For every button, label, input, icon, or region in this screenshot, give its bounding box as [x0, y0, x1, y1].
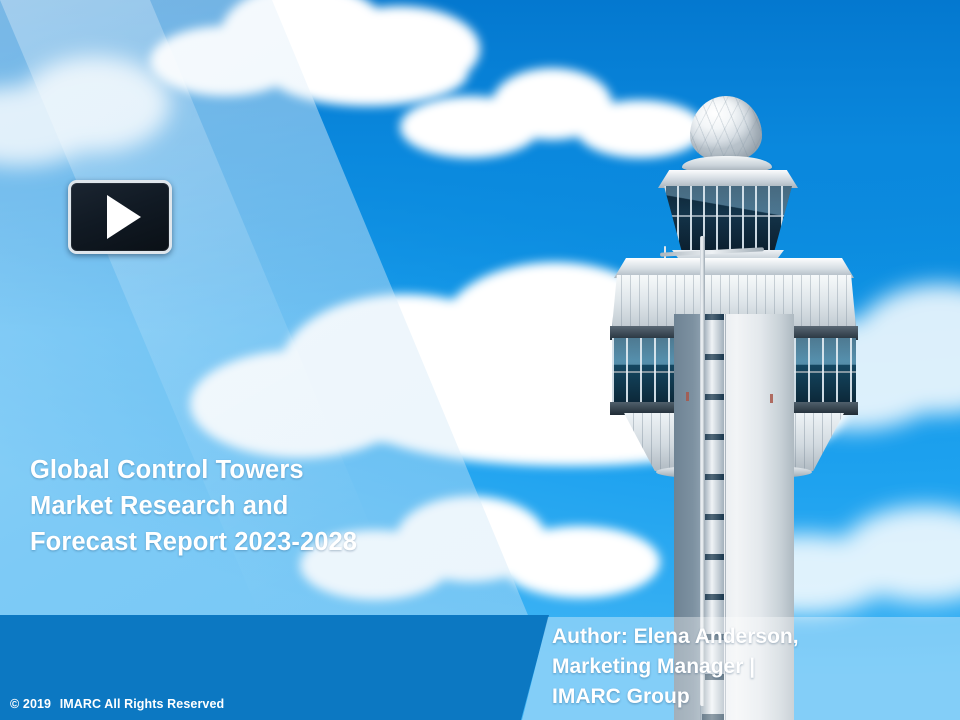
copyright-owner: IMARC: [60, 697, 101, 711]
page-title-line-1: Global Control Towers: [30, 452, 450, 488]
page-title-line-3: Forecast Report 2023-2028: [30, 524, 450, 560]
author-credit-line-2: Marketing Manager |: [552, 652, 952, 682]
report-cover-slide: Global Control Towers Market Research an…: [0, 0, 960, 720]
copyright-symbol: ©: [10, 697, 19, 711]
copyright-year: 2019: [23, 697, 51, 711]
play-triangle-icon: [107, 195, 141, 239]
play-video-button[interactable]: [68, 180, 172, 254]
shaft-marker-a: [686, 392, 689, 401]
page-title-line-2: Market Research and: [30, 488, 450, 524]
page-title: Global Control Towers Market Research an…: [30, 452, 450, 560]
author-credit: Author: Elena Anderson, Marketing Manage…: [552, 622, 952, 712]
copyright-notice: © 2019 IMARC All Rights Reserved: [10, 697, 224, 711]
cab-glass-band: [664, 186, 792, 252]
author-credit-line-3: IMARC Group: [552, 682, 952, 712]
radar-dome-icon: [690, 96, 762, 162]
cab-roof: [658, 170, 798, 188]
author-credit-line-1: Author: Elena Anderson,: [552, 622, 952, 652]
shaft-marker-b: [770, 394, 773, 403]
copyright-rights: All Rights Reserved: [104, 697, 224, 711]
